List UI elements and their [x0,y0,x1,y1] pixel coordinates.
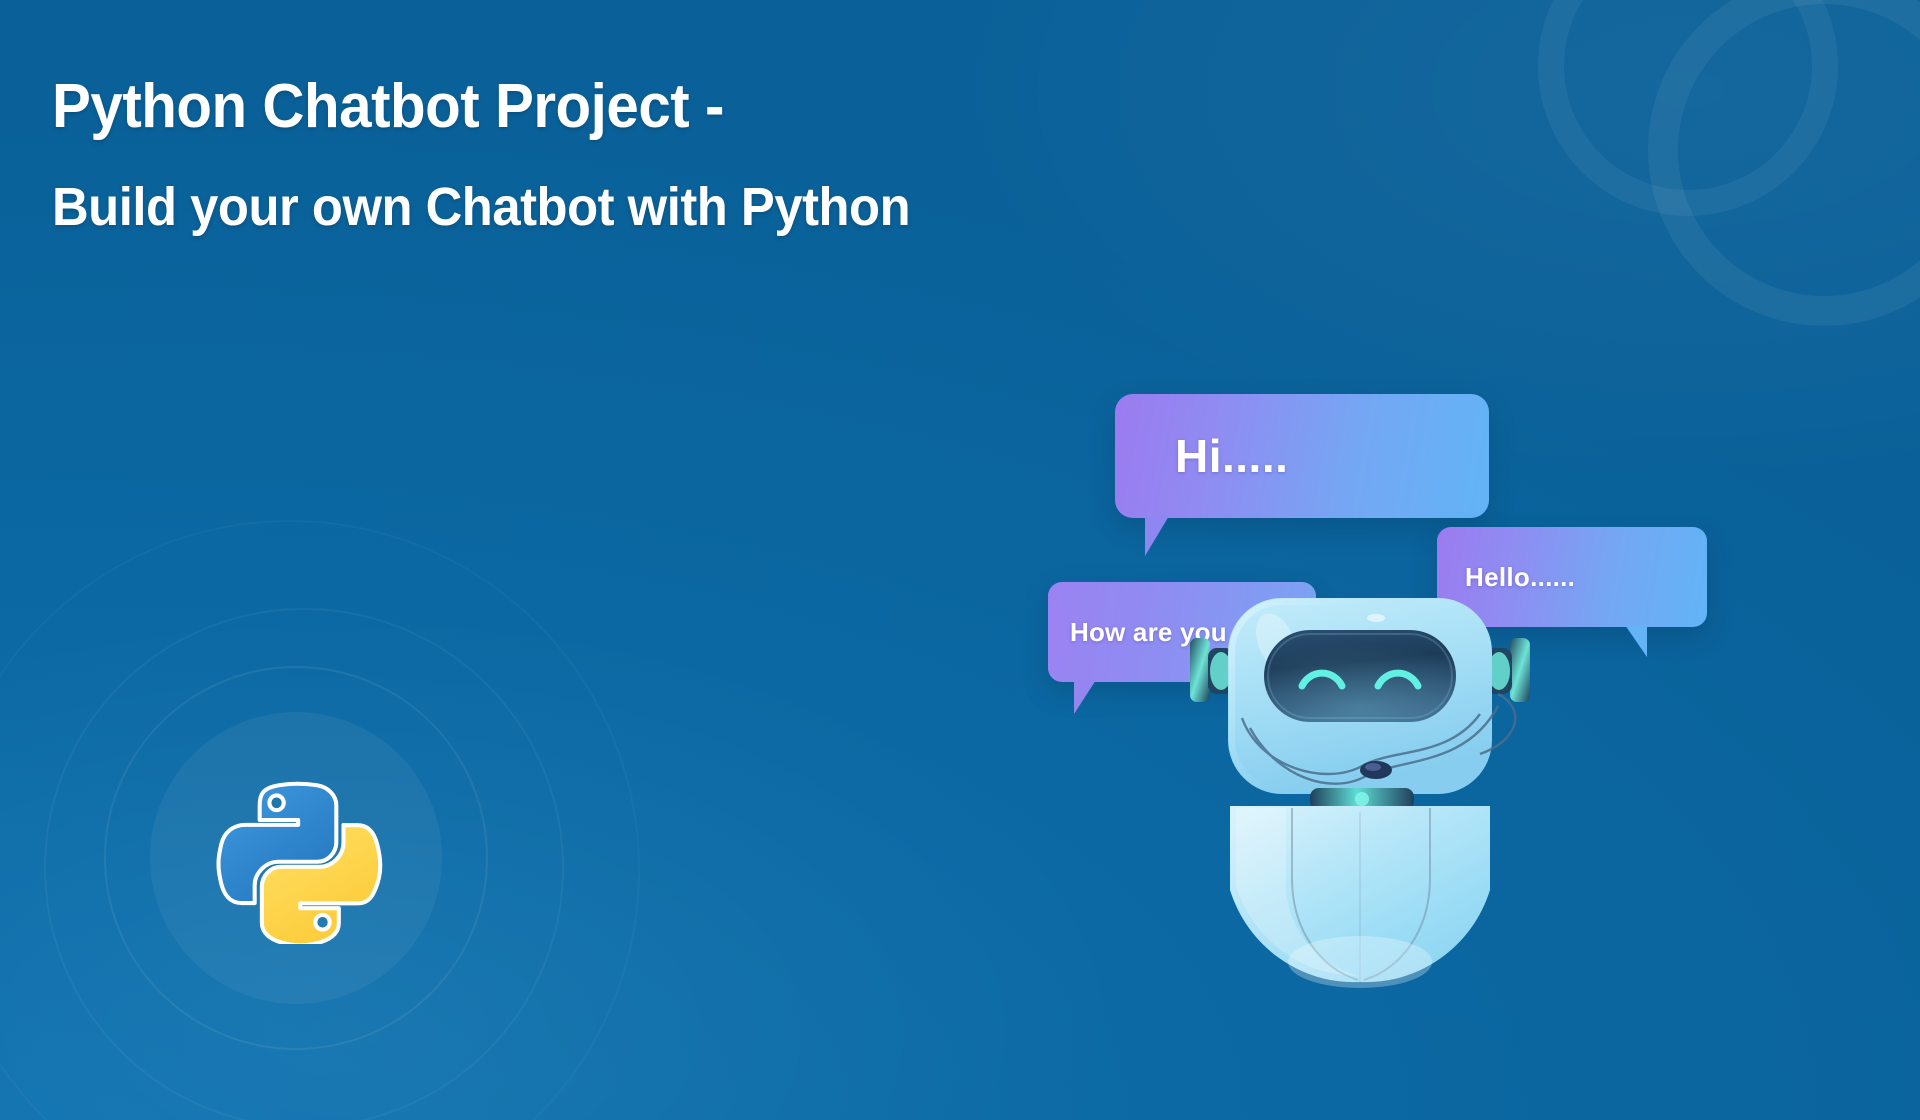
chat-bubble-hi: Hi..... [1115,394,1489,518]
title-line-1: Python Chatbot Project - [52,76,1086,138]
robot-ear-right-icon [1486,638,1530,702]
page-title: Python Chatbot Project - Build your own … [52,76,1152,234]
banner-canvas: Python Chatbot Project - Build your own … [0,0,1920,1120]
python-logo-icon [212,772,384,944]
chat-bubble-hi-text: Hi..... [1175,429,1288,483]
robot-ear-left-icon [1190,638,1234,702]
chatbot-robot-icon [1180,590,1540,1000]
chat-bubble-hello-text: Hello...... [1465,562,1575,593]
title-line-2: Build your own Chatbot with Python [52,180,1086,234]
